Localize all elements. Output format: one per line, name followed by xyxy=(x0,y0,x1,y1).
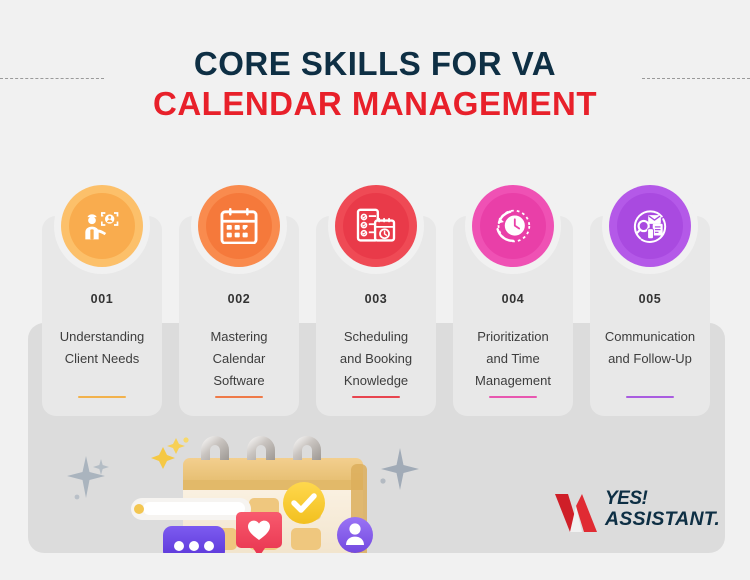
card-number-004: 004 xyxy=(502,292,525,306)
icon-bubble-003 xyxy=(328,178,424,274)
title-line-1: CORE SKILLS FOR VA xyxy=(0,44,750,84)
search-bar xyxy=(131,498,251,520)
clock-arrow-icon xyxy=(492,207,534,245)
checklist-clock-icon xyxy=(356,208,396,244)
card-text-003: Scheduling and Booking Knowledge xyxy=(334,326,418,391)
card-number-005: 005 xyxy=(639,292,662,306)
logo-text-assistant: ASSISTANT. xyxy=(605,508,720,531)
skill-card-004[interactable]: 004 Prioritization and Time Management xyxy=(453,216,573,416)
person-target-icon xyxy=(82,209,122,243)
skill-card-001[interactable]: 001 Understanding Client Needs xyxy=(42,216,162,416)
logo-text-yes: YES! xyxy=(605,488,647,510)
purple-user-avatar xyxy=(337,517,373,553)
card-number-001: 001 xyxy=(91,292,114,306)
brand-logo[interactable]: YES! ASSISTANT. xyxy=(553,488,713,540)
card-text-001: Understanding Client Needs xyxy=(54,326,151,370)
card-accent-rule-003 xyxy=(352,396,400,398)
va-monogram-icon xyxy=(553,490,599,541)
title-line-2: CALENDAR MANAGEMENT xyxy=(0,84,750,124)
card-accent-rule-004 xyxy=(489,396,537,398)
card-text-002: Mastering Calendar Software xyxy=(204,326,273,391)
page-title: CORE SKILLS FOR VA CALENDAR MANAGEMENT xyxy=(0,44,750,125)
red-heart-badge xyxy=(236,512,282,553)
card-accent-rule-002 xyxy=(215,396,263,398)
card-accent-rule-001 xyxy=(78,396,126,398)
sparkle-left xyxy=(67,456,109,499)
skill-card-005[interactable]: 005 Communication and Follow-Up xyxy=(590,216,710,416)
calendar-check-icon xyxy=(220,208,258,244)
icon-bubble-004 xyxy=(465,178,561,274)
binder-rings xyxy=(201,436,321,460)
skills-card-row: 001 Understanding Client Needs xyxy=(42,216,710,416)
skill-card-002[interactable]: 002 Mastering Calendar Software xyxy=(179,216,299,416)
skill-card-003[interactable]: 003 Scheduling and Booking Knowledge xyxy=(316,216,436,416)
calendar-3d-illustration xyxy=(55,428,425,553)
purple-chat-bubble xyxy=(163,526,225,553)
sparkle-right xyxy=(380,448,419,490)
infographic-canvas: CORE SKILLS FOR VA CALENDAR MANAGEMENT xyxy=(0,0,750,580)
mail-search-icon xyxy=(629,207,671,245)
card-text-005: Communication and Follow-Up xyxy=(599,326,701,370)
card-number-002: 002 xyxy=(228,292,251,306)
icon-bubble-001 xyxy=(54,178,150,274)
icon-bubble-002 xyxy=(191,178,287,274)
card-text-004: Prioritization and Time Management xyxy=(469,326,557,391)
card-accent-rule-005 xyxy=(626,396,674,398)
gold-star xyxy=(151,437,189,469)
yellow-check-badge xyxy=(283,482,325,524)
icon-bubble-005 xyxy=(602,178,698,274)
card-number-003: 003 xyxy=(365,292,388,306)
